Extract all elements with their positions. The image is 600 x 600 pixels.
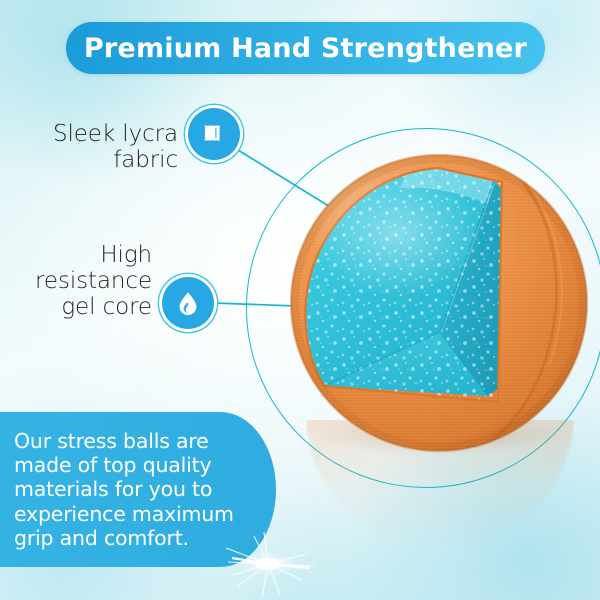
infographic-canvas: Premium Hand Strengthener Sleek lycra fa… [0, 0, 600, 600]
callout-label-fabric-line2: fabric [6, 148, 178, 174]
fabric-swatch-icon[interactable] [188, 108, 240, 160]
description-panel: Our stress balls are made of top quality… [0, 412, 276, 567]
water-droplet-glyph [173, 288, 203, 318]
callout-label-gel-line2: resistance [0, 269, 152, 295]
sparkle-core-glow [252, 556, 288, 570]
fabric-swatch-glyph [199, 119, 229, 149]
callout-label-gel-line1: High [0, 243, 152, 269]
callout-label-fabric-line1: Sleek lycra [6, 122, 178, 148]
description-text: Our stress balls are made of top quality… [0, 429, 276, 550]
water-droplet-icon[interactable] [162, 277, 214, 329]
callout-label-gel-line3: gel core [0, 295, 152, 321]
product-image-stress-ball [288, 152, 590, 454]
stress-ball-cutaway-illustration [288, 152, 590, 454]
callout-label-gel: High resistance gel core [0, 243, 152, 320]
page-title: Premium Hand Strengthener [84, 33, 527, 64]
callout-label-fabric: Sleek lycra fabric [6, 122, 178, 174]
page-title-banner: Premium Hand Strengthener [66, 22, 545, 74]
